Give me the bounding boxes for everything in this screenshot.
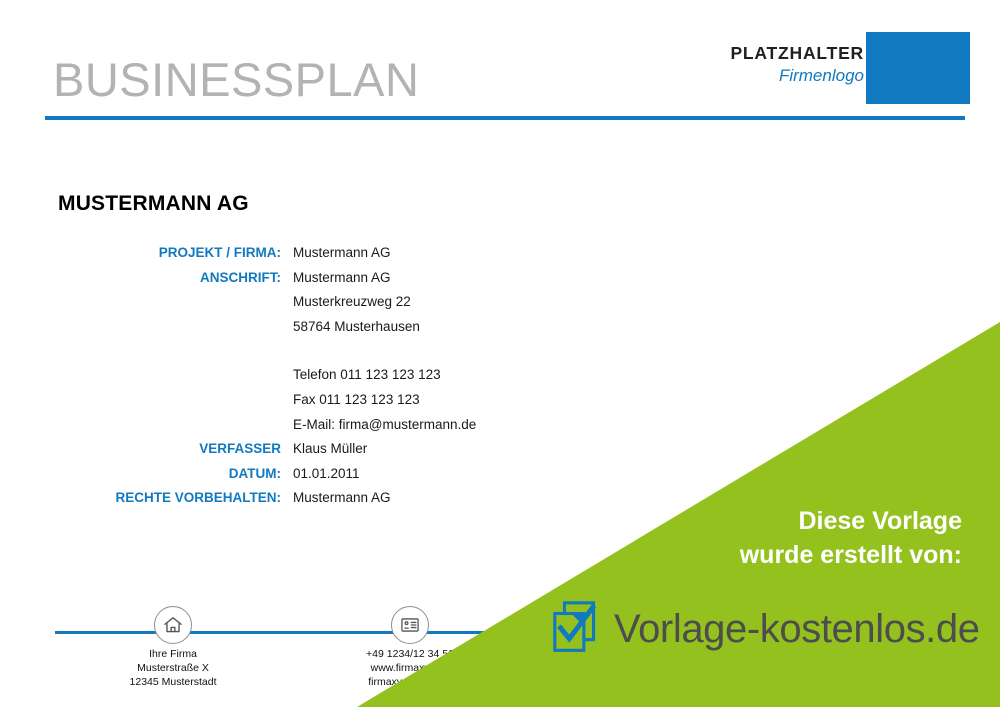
detail-label: PROJEKT / FIRMA: — [0, 245, 293, 260]
logo-placeholder-line1: PLATZHALTER — [730, 44, 864, 64]
detail-row: ANSCHRIFT:Mustermann AG — [0, 270, 620, 295]
footer-line: Ihre Firma — [83, 648, 263, 662]
detail-value: Mustermann AG — [293, 270, 391, 285]
detail-value: 01.01.2011 — [293, 466, 360, 481]
footer-line: Musterstraße X — [83, 662, 263, 676]
footer-line: 12345 Musterstadt — [83, 676, 263, 690]
detail-row: Fax 011 123 123 123 — [0, 392, 620, 417]
detail-value: Mustermann AG — [293, 490, 391, 505]
promo-headline-line1: Diese Vorlage — [740, 505, 962, 539]
company-heading: MUSTERMANN AG — [58, 192, 249, 216]
company-logo-placeholder: PLATZHALTER Firmenlogo — [726, 32, 970, 104]
vorlage-kostenlos-wordmark: Vorlage-kostenlos.de — [614, 607, 980, 652]
promo-headline: Diese Vorlage wurde erstellt von: — [740, 505, 962, 573]
detail-row — [0, 343, 620, 367]
detail-row: VERFASSERKlaus Müller — [0, 441, 620, 466]
vorlage-kostenlos-logo[interactable]: Vorlage-kostenlos.de — [548, 598, 980, 660]
logo-placeholder-line2: Firmenlogo — [730, 66, 864, 85]
detail-row: PROJEKT / FIRMA:Mustermann AG — [0, 245, 620, 270]
logo-placeholder-text: PLATZHALTER Firmenlogo — [730, 44, 864, 85]
detail-row: Musterkreuzweg 22 — [0, 294, 620, 319]
contact-card-icon — [391, 606, 429, 644]
detail-value: Klaus Müller — [293, 441, 367, 456]
detail-row: RECHTE VORBEHALTEN:Mustermann AG — [0, 490, 620, 515]
header-divider — [45, 116, 965, 120]
document-details: PROJEKT / FIRMA:Mustermann AGANSCHRIFT:M… — [0, 245, 620, 515]
detail-value: 58764 Musterhausen — [293, 319, 420, 334]
detail-label: VERFASSER — [0, 441, 293, 456]
detail-value: Mustermann AG — [293, 245, 391, 260]
document-page: BUSINESSPLAN PLATZHALTER Firmenlogo MUST… — [0, 0, 1000, 707]
detail-row: 58764 Musterhausen — [0, 319, 620, 344]
detail-row: E-Mail: firma@mustermann.de — [0, 417, 620, 442]
detail-row: Telefon 011 123 123 123 — [0, 367, 620, 392]
home-icon — [154, 606, 192, 644]
detail-value: Fax 011 123 123 123 — [293, 392, 420, 407]
detail-label: RECHTE VORBEHALTEN: — [0, 490, 293, 505]
page-title: BUSINESSPLAN — [53, 56, 419, 103]
promo-headline-line2: wurde erstellt von: — [740, 539, 962, 573]
logo-color-swatch — [866, 32, 970, 104]
document-check-icon — [548, 598, 610, 660]
detail-value: Telefon 011 123 123 123 — [293, 367, 441, 382]
footer-column-address: Ihre Firma Musterstraße X 12345 Musterst… — [83, 606, 263, 690]
detail-label: ANSCHRIFT: — [0, 270, 293, 285]
detail-value: E-Mail: firma@mustermann.de — [293, 417, 476, 432]
detail-label: DATUM: — [0, 466, 293, 481]
detail-row: DATUM:01.01.2011 — [0, 466, 620, 491]
detail-value: Musterkreuzweg 22 — [293, 294, 411, 309]
footer-address-lines: Ihre Firma Musterstraße X 12345 Musterst… — [83, 648, 263, 690]
